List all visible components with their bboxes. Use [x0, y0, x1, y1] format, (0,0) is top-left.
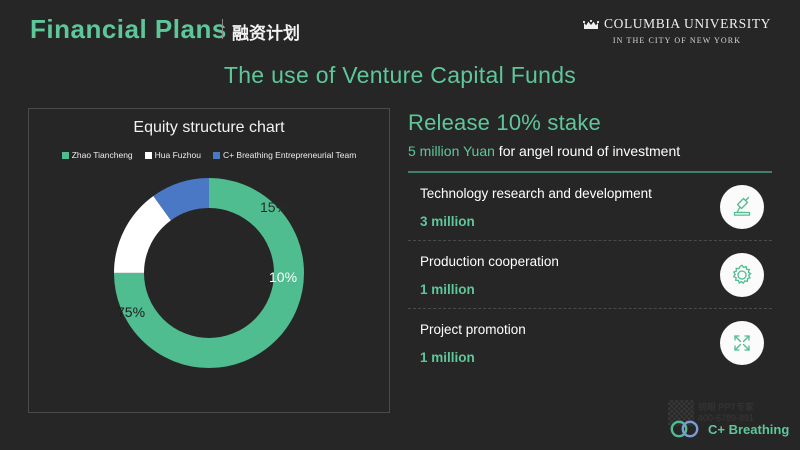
- legend-item: Zhao Tiancheng: [62, 150, 133, 160]
- legend-label: Hua Fuzhou: [155, 150, 201, 160]
- allocation-title: Project promotion: [420, 322, 702, 337]
- legend-label: Zhao Tiancheng: [72, 150, 133, 160]
- microscope-icon: [720, 185, 764, 229]
- legend-item: C+ Breathing Entrepreneurial Team: [213, 150, 356, 160]
- expand-arrows-icon: [720, 321, 764, 365]
- legend-swatch-icon: [213, 152, 220, 159]
- page-header: Financial Plans 融资计划 COLUMBIA UNIVERSITY…: [0, 0, 800, 56]
- chart-legend: Zhao Tiancheng Hua Fuzhou C+ Breathing E…: [29, 150, 389, 160]
- legend-swatch-icon: [145, 152, 152, 159]
- pie-label-15: 15%: [260, 199, 288, 215]
- gear-icon: [720, 253, 764, 297]
- release-stake-heading: Release 10% stake: [408, 110, 772, 136]
- allocation-item-promotion[interactable]: Project promotion 1 million: [408, 308, 772, 376]
- funding-allocation-panel: Release 10% stake 5 million Yuan for ang…: [408, 110, 772, 376]
- legend-label: C+ Breathing Entrepreneurial Team: [223, 150, 356, 160]
- crown-icon: [583, 18, 599, 34]
- legend-item: Hua Fuzhou: [145, 150, 201, 160]
- release-amount: 5 million Yuan: [408, 143, 495, 159]
- page-title-chinese: 融资计划: [232, 19, 300, 44]
- watermark-line-1: 锐眼 PPT专家: [698, 402, 754, 413]
- chart-title: Equity structure chart: [29, 119, 389, 137]
- interlocking-circles-icon: [668, 419, 702, 439]
- slide-subtitle: The use of Venture Capital Funds: [0, 62, 800, 89]
- columbia-university-logo: COLUMBIA UNIVERSITY IN THE CITY OF NEW Y…: [582, 16, 772, 45]
- logo-line-1: COLUMBIA UNIVERSITY: [604, 16, 771, 31]
- allocation-title: Production cooperation: [420, 254, 702, 269]
- allocation-item-technology[interactable]: Technology research and development 3 mi…: [408, 173, 772, 240]
- legend-swatch-icon: [62, 152, 69, 159]
- allocation-value: 1 million: [420, 350, 702, 365]
- allocation-item-production[interactable]: Production cooperation 1 million: [408, 240, 772, 308]
- allocation-value: 1 million: [420, 282, 702, 297]
- brand-logo: C+ Breathing: [668, 419, 789, 439]
- logo-line-2: IN THE CITY OF NEW YORK: [582, 36, 772, 45]
- logo-wordmark: COLUMBIA UNIVERSITY: [582, 16, 772, 34]
- pie-label-10: 10%: [269, 269, 297, 285]
- brand-name: C+ Breathing: [708, 422, 789, 437]
- allocation-title: Technology research and development: [420, 186, 702, 201]
- donut-chart: 75% 15% 10%: [29, 164, 389, 379]
- release-stake-subheading: 5 million Yuan for angel round of invest…: [408, 143, 772, 159]
- equity-chart-panel: Equity structure chart Zhao Tiancheng Hu…: [28, 108, 390, 413]
- pie-label-75: 75%: [117, 304, 145, 320]
- allocation-value: 3 million: [420, 214, 702, 229]
- release-purpose: for angel round of investment: [495, 143, 680, 159]
- title-divider: [222, 19, 223, 39]
- page-title: Financial Plans: [30, 14, 227, 45]
